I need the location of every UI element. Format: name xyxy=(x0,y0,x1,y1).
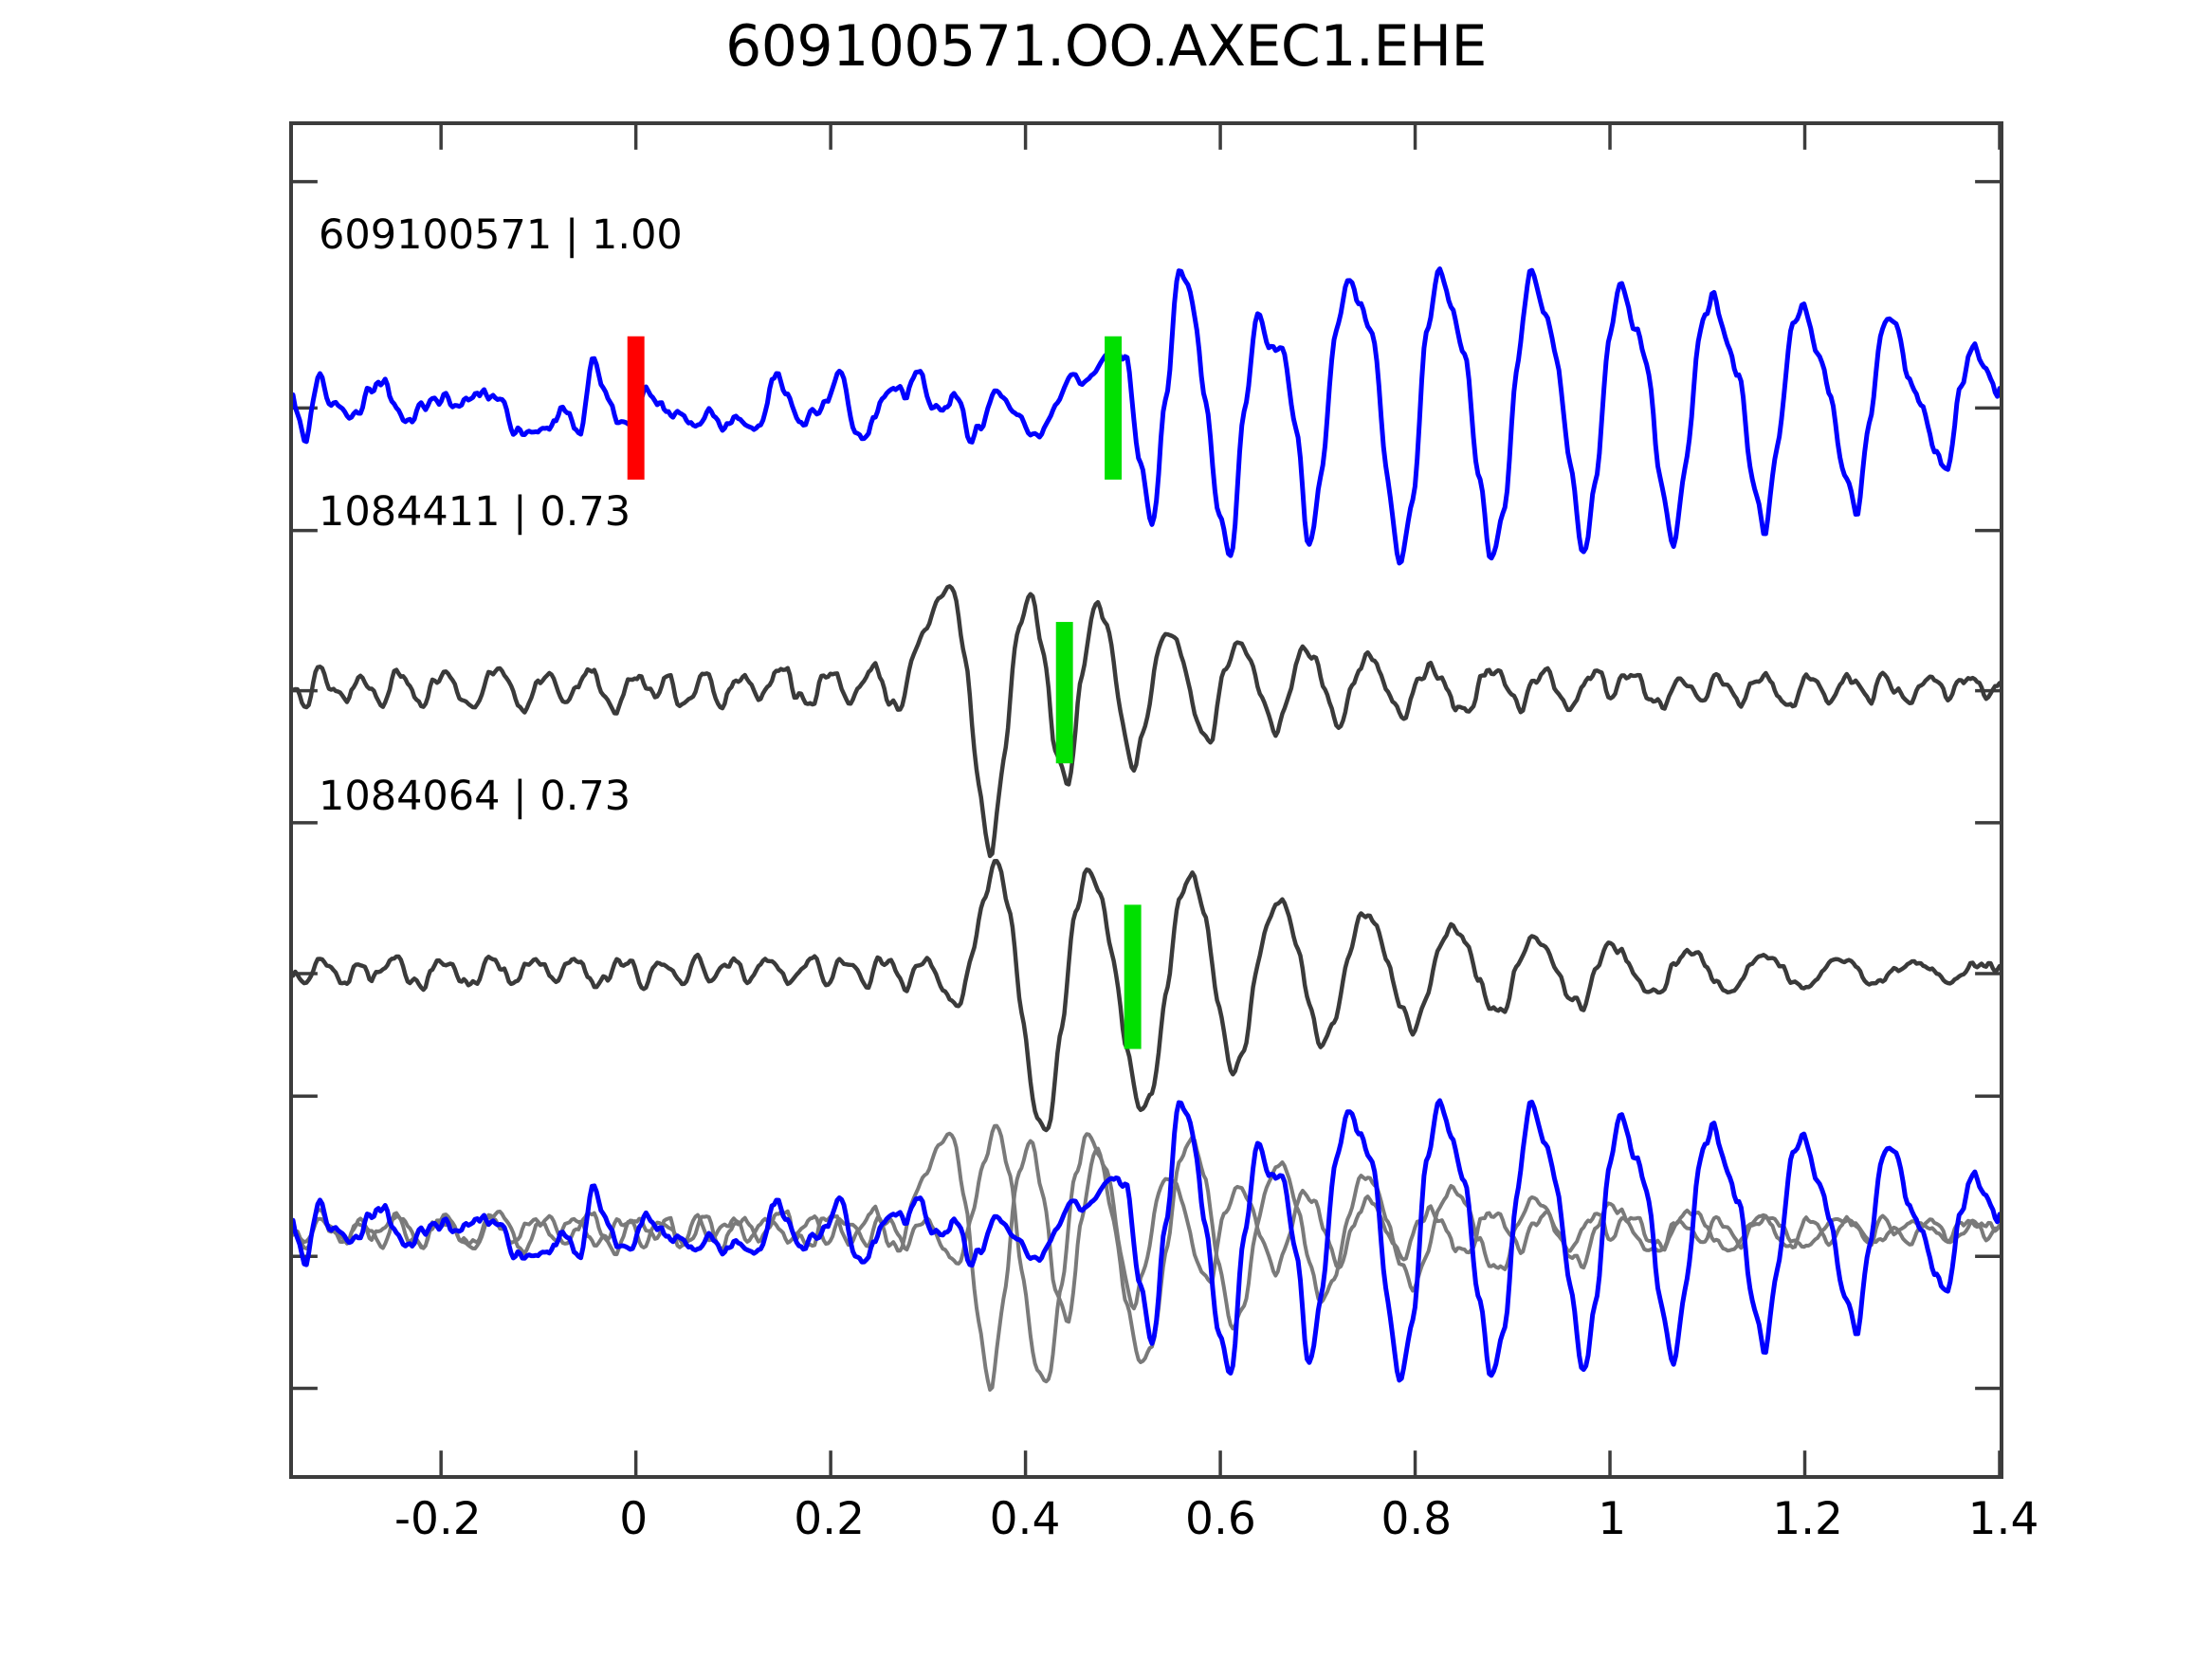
trace-label-1084064: 1084064 | 0.73 xyxy=(319,773,631,820)
page-title: 609100571.OO.AXEC1.EHE xyxy=(0,13,2212,80)
x-tick-label: 0 xyxy=(619,1493,648,1545)
phase-pick-marker xyxy=(1056,622,1073,763)
x-tick-label: 1.2 xyxy=(1772,1493,1843,1545)
x-tick-label: 1 xyxy=(1598,1493,1626,1545)
figure-root: 609100571.OO.AXEC1.EHE 609100571 | 1.00 … xyxy=(0,0,2212,1659)
x-tick-label: 0.2 xyxy=(794,1493,865,1545)
waveform-path xyxy=(293,861,2000,1130)
origin-pick-marker xyxy=(628,337,645,480)
phase-pick-marker xyxy=(1105,337,1122,480)
trace-label-609100571: 609100571 | 1.00 xyxy=(319,211,683,259)
x-tick-label: -0.2 xyxy=(394,1493,482,1545)
trace-label-1084411: 1084411 | 0.73 xyxy=(319,488,631,536)
x-tick-label: 0.8 xyxy=(1380,1493,1452,1545)
phase-pick-marker xyxy=(1124,904,1142,1048)
plot-area: 609100571 | 1.00 1084411 | 0.73 1084064 … xyxy=(289,121,2003,1479)
x-axis-tick-labels: -0.200.20.40.60.811.21.4 xyxy=(289,1493,2003,1559)
x-tick-label: 0.4 xyxy=(990,1493,1061,1545)
x-tick-label: 0.6 xyxy=(1185,1493,1256,1545)
waveform-path xyxy=(293,1101,2000,1380)
x-tick-label: 1.4 xyxy=(1968,1493,2039,1545)
waveform-traces xyxy=(293,269,2000,1390)
